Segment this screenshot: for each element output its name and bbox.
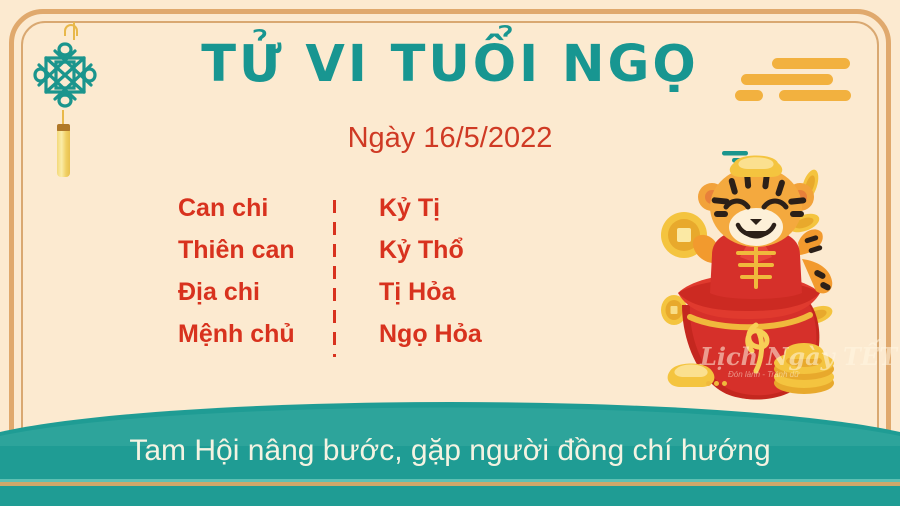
table-divider (333, 200, 336, 357)
row-label: Thiên can (178, 236, 333, 265)
row-value: Kỷ Thổ (333, 236, 508, 265)
row-label: Mệnh chủ (178, 320, 333, 349)
table-row: Can chi Kỷ Tị (178, 194, 508, 236)
knot-hook (64, 24, 78, 36)
table-row: Mệnh chủ Ngọ Hỏa (178, 320, 508, 362)
row-value: Tị Hỏa (333, 278, 508, 307)
row-value: Ngọ Hỏa (333, 320, 508, 349)
banner-message: Tam Hội nâng bước, gặp người đồng chí hư… (0, 434, 900, 468)
bottom-banner: Tam Hội nâng bước, gặp người đồng chí hư… (0, 388, 900, 506)
info-table: Can chi Kỷ Tị Thiên can Kỷ Thổ Địa chi T… (178, 194, 508, 362)
row-value: Kỷ Tị (333, 194, 508, 223)
row-label: Can chi (178, 194, 333, 223)
tiger-illustration (660, 135, 875, 410)
horoscope-card: Tử Vi Tuổi Ngọ Ngày 16/5/2022 Can chi Kỷ… (0, 0, 900, 506)
page-title: Tử Vi Tuổi Ngọ (0, 38, 900, 92)
table-row: Thiên can Kỷ Thổ (178, 236, 508, 278)
banner-gold-line (0, 482, 900, 486)
row-label: Địa chi (178, 278, 333, 307)
table-row: Địa chi Tị Hỏa (178, 278, 508, 320)
